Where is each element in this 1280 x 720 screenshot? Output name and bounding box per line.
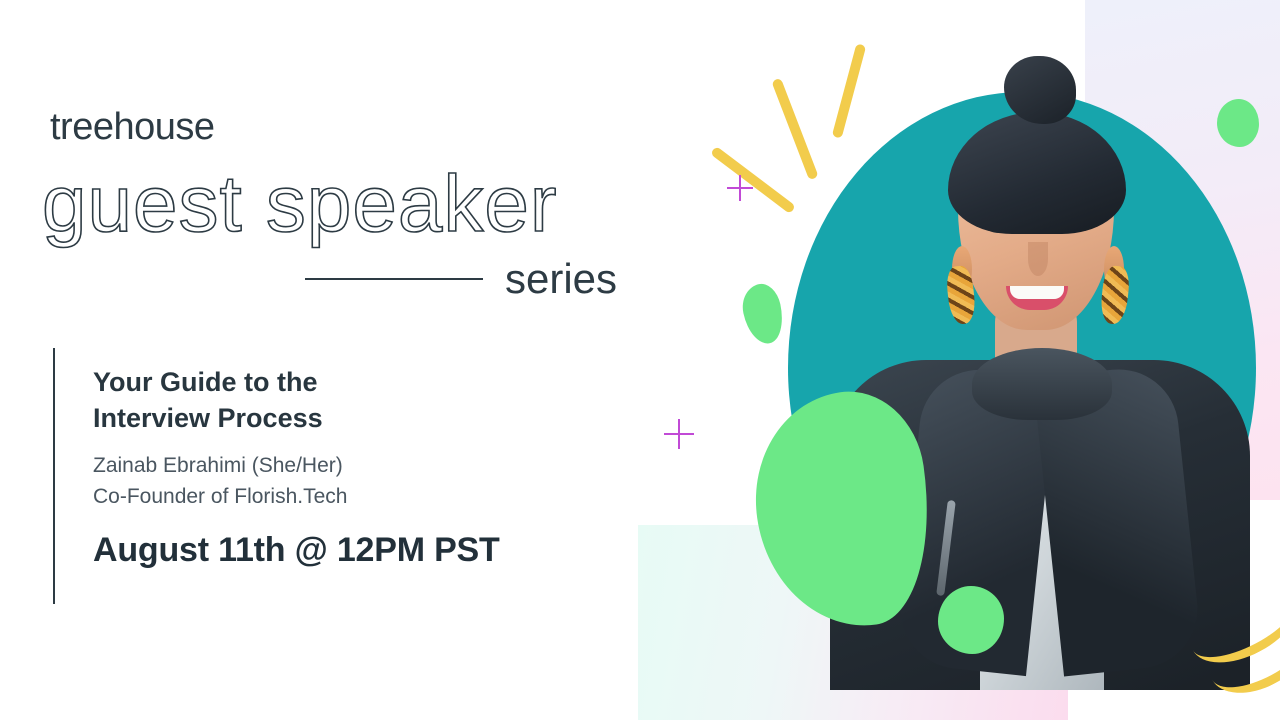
session-date-time: August 11th @ 12PM PST xyxy=(93,531,500,570)
session-title-line-2: Interview Process xyxy=(93,403,323,433)
session-title: Your Guide to the Interview Process xyxy=(93,364,423,436)
portrait-hair xyxy=(948,112,1126,234)
brand-wordmark: treehouse xyxy=(50,106,215,149)
green-dot-shape xyxy=(1217,99,1259,147)
green-pebble-shape xyxy=(938,586,1004,654)
speaker-role: Co-Founder of Florish.Tech xyxy=(93,481,500,512)
session-title-line-1: Your Guide to the xyxy=(93,367,318,397)
session-info-block: Your Guide to the Interview Process Zain… xyxy=(53,348,500,604)
green-blob-small-shape xyxy=(738,281,788,348)
magenta-plus-icon-upper xyxy=(727,175,753,201)
headline-outline-text: guest speaker xyxy=(42,158,558,250)
magenta-plus-icon-lower xyxy=(664,419,694,449)
yellow-spark-stroke-3 xyxy=(710,146,796,214)
portrait-teeth xyxy=(1010,286,1064,299)
slide-canvas: treehouse guest speaker series Your Guid… xyxy=(0,0,1280,720)
series-row: series xyxy=(305,255,625,303)
series-word: series xyxy=(505,255,617,303)
series-divider-rule xyxy=(305,278,483,280)
portrait-jacket-collar xyxy=(972,348,1112,420)
portrait-nose xyxy=(1028,242,1048,276)
speaker-name: Zainab Ebrahimi (She/Her) xyxy=(93,450,500,481)
